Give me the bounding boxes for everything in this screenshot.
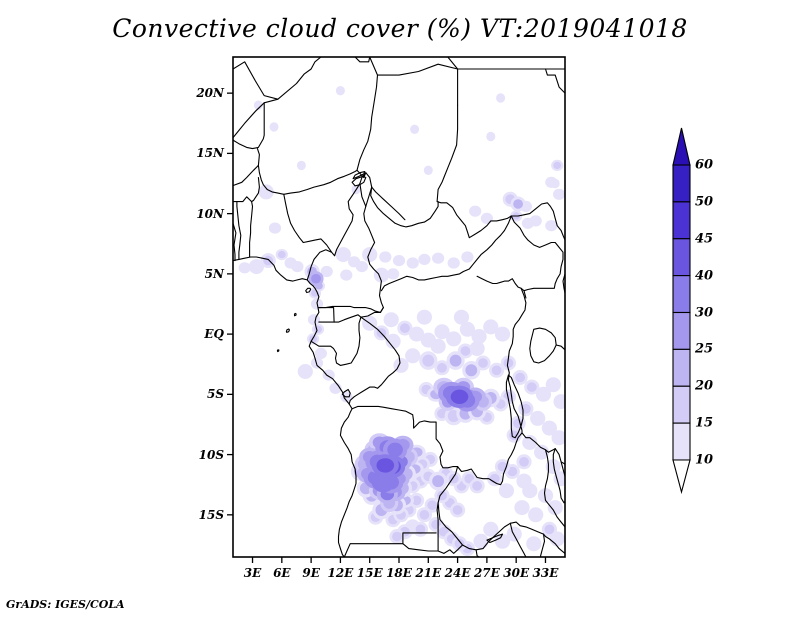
y-axis-tick-label: 10S (199, 448, 224, 462)
cloud-cell-core (420, 312, 430, 322)
cloud-cell-core (425, 167, 431, 173)
cloud-cell-core (554, 433, 564, 443)
cloud-cell-core (342, 272, 350, 279)
colorbar (673, 128, 690, 492)
colorbar-tick-label: 10 (695, 453, 713, 468)
border-line (565, 57, 624, 165)
cloud-cell-core (427, 500, 437, 510)
cloud-cell-core (392, 532, 402, 542)
colorbar-tick-label: 60 (695, 158, 713, 173)
x-axis-tick-label: 3E (244, 566, 262, 580)
cloud-cell-core (358, 263, 366, 270)
colorbar-tick-label: 45 (695, 231, 713, 246)
cloud-cell-core (474, 332, 484, 342)
cloud-cell-core (463, 325, 473, 335)
grads-plot-canvas (0, 0, 800, 618)
cloud-cell-core (486, 322, 496, 332)
cloud-cell-core (471, 208, 479, 215)
x-axis-tick-label: 30E (503, 566, 529, 580)
cloud-cell-core (527, 382, 537, 392)
cloud-cell-core (465, 364, 477, 376)
colorbar-band (673, 165, 690, 202)
cloud-cell-core (433, 341, 443, 351)
cloud-cell-core (552, 181, 558, 187)
cloud-cell-core (483, 215, 491, 222)
x-axis-tick-label: 18E (386, 566, 412, 580)
cloud-cell-core (400, 323, 410, 333)
cloud-cell-core (524, 220, 532, 227)
cloud-cell-core (311, 274, 321, 284)
cloud-cell-core (408, 351, 418, 361)
colorbar-band (673, 349, 690, 386)
grads-credit: GrADS: IGES/COLA (6, 598, 125, 611)
cloud-cell-core (409, 259, 417, 266)
cloud-cell-core (478, 358, 488, 368)
cloud-cell-core (263, 256, 273, 266)
cloud-cell-core (533, 414, 543, 424)
colorbar-tick-label: 30 (695, 305, 713, 320)
colorbar-tick-label: 50 (695, 194, 713, 209)
cloud-cell-core (547, 222, 555, 229)
cloud-cell-core (455, 539, 465, 549)
cloud-cell-core (529, 539, 539, 549)
cloud-cell-core (386, 315, 396, 325)
cloud-cell-core (381, 253, 389, 260)
cloud-cell-core (437, 363, 447, 373)
cloud-cell-core (377, 458, 395, 472)
colorbar-band (673, 276, 690, 313)
cloud-cell-core (476, 537, 486, 547)
colorbar-bottom-arrow (673, 460, 690, 492)
x-axis-tick-label: 6E (273, 566, 291, 580)
cloud-cell-core (472, 344, 482, 354)
y-axis-tick-label: EQ (204, 327, 224, 341)
cloud-cell-core (472, 481, 482, 491)
y-axis-tick-label: 10N (196, 207, 224, 221)
cloud-cell-core (555, 191, 563, 198)
cloud-cell-core (412, 126, 418, 132)
y-axis-tick-label: 5N (205, 267, 224, 281)
cloud-cell-core (449, 334, 459, 344)
colorbar-top-arrow (673, 128, 690, 165)
colorbar-band (673, 313, 690, 350)
cloud-cell-core (421, 256, 429, 263)
cloud-cell-core (310, 316, 318, 323)
cloud-cell-core (422, 355, 434, 367)
cloud-cell-core (299, 162, 305, 168)
cloud-cell-core (317, 350, 325, 357)
cloud-cell-core (278, 251, 286, 258)
cloud-cell-core (323, 268, 331, 275)
cloud-cell-core (287, 259, 295, 266)
cloud-cell-core (450, 355, 462, 367)
y-axis-tick-label: 15S (199, 508, 224, 522)
x-axis-tick-label: 15E (357, 566, 383, 580)
cloud-cell-core (420, 510, 430, 520)
cloud-cell-core (389, 270, 397, 277)
x-axis-tick-label: 21E (415, 566, 441, 580)
cloud-cell-core (488, 134, 494, 140)
cloud-cell-core (252, 262, 262, 272)
cloud-cell-core (464, 253, 472, 260)
cloud-cell-core (432, 475, 444, 487)
cloud-cell-core (271, 124, 277, 130)
cloud-cell-core (519, 457, 529, 467)
cloud-cell-core (553, 162, 561, 169)
colorbar-band (673, 202, 690, 239)
cloud-cell-core (457, 312, 467, 322)
colorbar-tick-label: 20 (695, 379, 713, 394)
colorbar-band (673, 423, 690, 460)
cloud-cell-core (388, 337, 398, 347)
cloud-cell-core (256, 102, 262, 108)
cloud-cell-core (513, 199, 523, 209)
cloud-cell-core (377, 270, 387, 280)
cloud-cell-core (519, 476, 529, 486)
x-axis-tick-label: 9E (302, 566, 320, 580)
x-axis-tick-label: 24E (445, 566, 471, 580)
cloud-cell-core (545, 525, 555, 535)
cloud-cell-core (453, 505, 463, 515)
y-axis-tick-label: 20N (196, 86, 224, 100)
cloud-cell-core (492, 366, 502, 376)
cloud-cell-core (451, 390, 469, 404)
cloud-cell-core (531, 510, 541, 520)
colorbar-tick-label: 15 (695, 416, 713, 431)
cloud-cell-core (395, 257, 403, 264)
x-axis-tick-label: 33E (533, 566, 559, 580)
cloud-cell-core (515, 373, 525, 383)
cloud-cell-core (502, 486, 512, 496)
cloud-cell-core (545, 423, 555, 433)
cloud-cell-core (241, 264, 249, 271)
colorbar-tick-label: 40 (695, 268, 713, 283)
cloud-cell-core (498, 329, 508, 339)
cloud-cell-core (537, 447, 547, 457)
cloud-cell-core (498, 95, 504, 101)
cloud-cell-core (314, 326, 322, 333)
colorbar-band (673, 386, 690, 423)
cloud-cell-core (437, 327, 447, 337)
colorbar-tick-label: 25 (695, 342, 713, 357)
border-line (277, 350, 279, 352)
y-axis-tick-label: 5S (207, 387, 224, 401)
cloud-cell-core (548, 380, 558, 390)
cloud-cell-core (525, 438, 535, 448)
x-axis-tick-label: 27E (474, 566, 500, 580)
y-axis-tick-label: 15N (196, 146, 224, 160)
cloud-cell-core (412, 329, 422, 339)
cloud-cell-core (300, 367, 310, 377)
cloud-cell-core (539, 390, 549, 400)
cloud-cell-core (517, 503, 527, 513)
cloud-cell-core (271, 225, 279, 232)
colorbar-band (673, 239, 690, 276)
cloud-cell-core (338, 250, 348, 260)
cloud-cell-core (434, 255, 442, 262)
x-axis-tick-label: 12E (327, 566, 353, 580)
cloud-cell-core (486, 525, 496, 535)
cloud-cell-core (450, 259, 458, 266)
cloud-cell-core (338, 88, 344, 94)
